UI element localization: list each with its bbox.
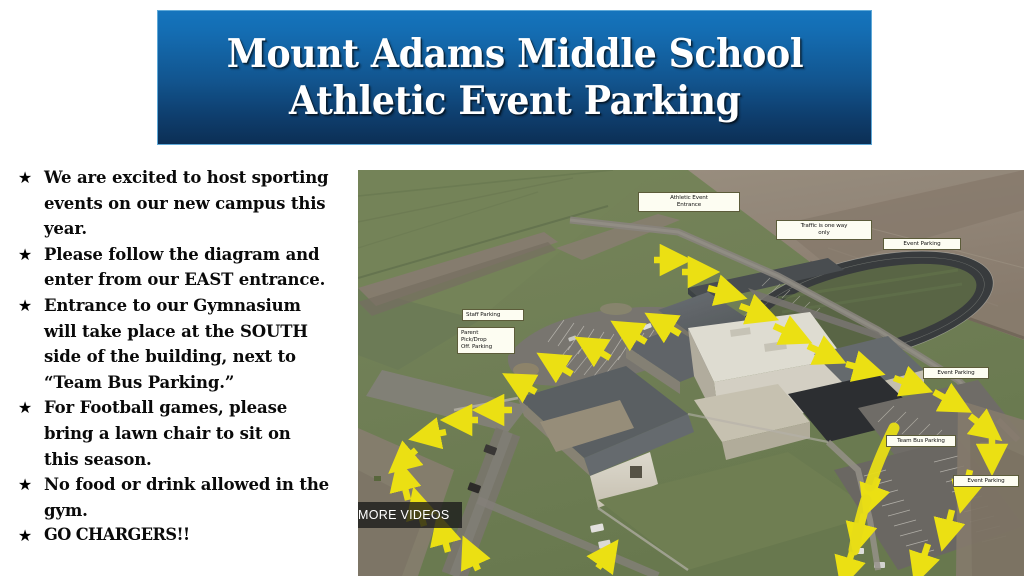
map-label-event-parking-north: Event Parking [883, 238, 961, 250]
list-item-text: Please follow the diagram and enter from… [44, 242, 348, 293]
page-title-line-1: Mount Adams Middle School [226, 31, 803, 77]
star-bullet-icon: ★ [0, 472, 44, 498]
map-label-team-bus-parking: Team Bus Parking [886, 435, 956, 447]
info-bullet-list: ★ We are excited to host sporting events… [0, 165, 348, 549]
list-item: ★ We are excited to host sporting events… [0, 165, 348, 242]
star-bullet-icon: ★ [0, 165, 44, 191]
star-bullet-icon: ★ [0, 293, 44, 319]
title-banner: Mount Adams Middle School Athletic Event… [157, 10, 872, 145]
map-label-staff-parking: Staff Parking [462, 309, 524, 321]
page-title-line-2: Athletic Event Parking [289, 78, 741, 124]
star-bullet-icon: ★ [0, 242, 44, 268]
star-bullet-icon: ★ [0, 523, 44, 549]
list-item-text: No food or drink allowed in the gym. [44, 472, 348, 523]
map-label-parent-pick-drop-off: Parent Pick/Drop Off. Parking [457, 327, 515, 354]
list-item-text: Entrance to our Gymnasium will take plac… [44, 293, 348, 395]
list-item: ★ Entrance to our Gymnasium will take pl… [0, 293, 348, 395]
list-item: ★ For Football games, please bring a law… [0, 395, 348, 472]
map-label-athletic-event-entrance: Athletic Event Entrance [638, 192, 740, 212]
more-videos-button[interactable]: MORE VIDEOS [358, 502, 462, 528]
aerial-campus-photo: Athletic Event Entrance Traffic is one w… [358, 170, 1024, 576]
map-label-traffic-one-way: Traffic is one way only [776, 220, 872, 240]
star-bullet-icon: ★ [0, 395, 44, 421]
list-item: ★ No food or drink allowed in the gym. [0, 472, 348, 523]
list-item: ★ GO CHARGERS!! [0, 523, 348, 549]
list-item-text: For Football games, please bring a lawn … [44, 395, 348, 472]
list-item: ★ Please follow the diagram and enter fr… [0, 242, 348, 293]
map-label-event-parking-southeast: Event Parking [953, 475, 1019, 487]
list-item-text: We are excited to host sporting events o… [44, 165, 348, 242]
map-label-event-parking-east: Event Parking [923, 367, 989, 379]
list-item-text: GO CHARGERS!! [44, 523, 333, 549]
